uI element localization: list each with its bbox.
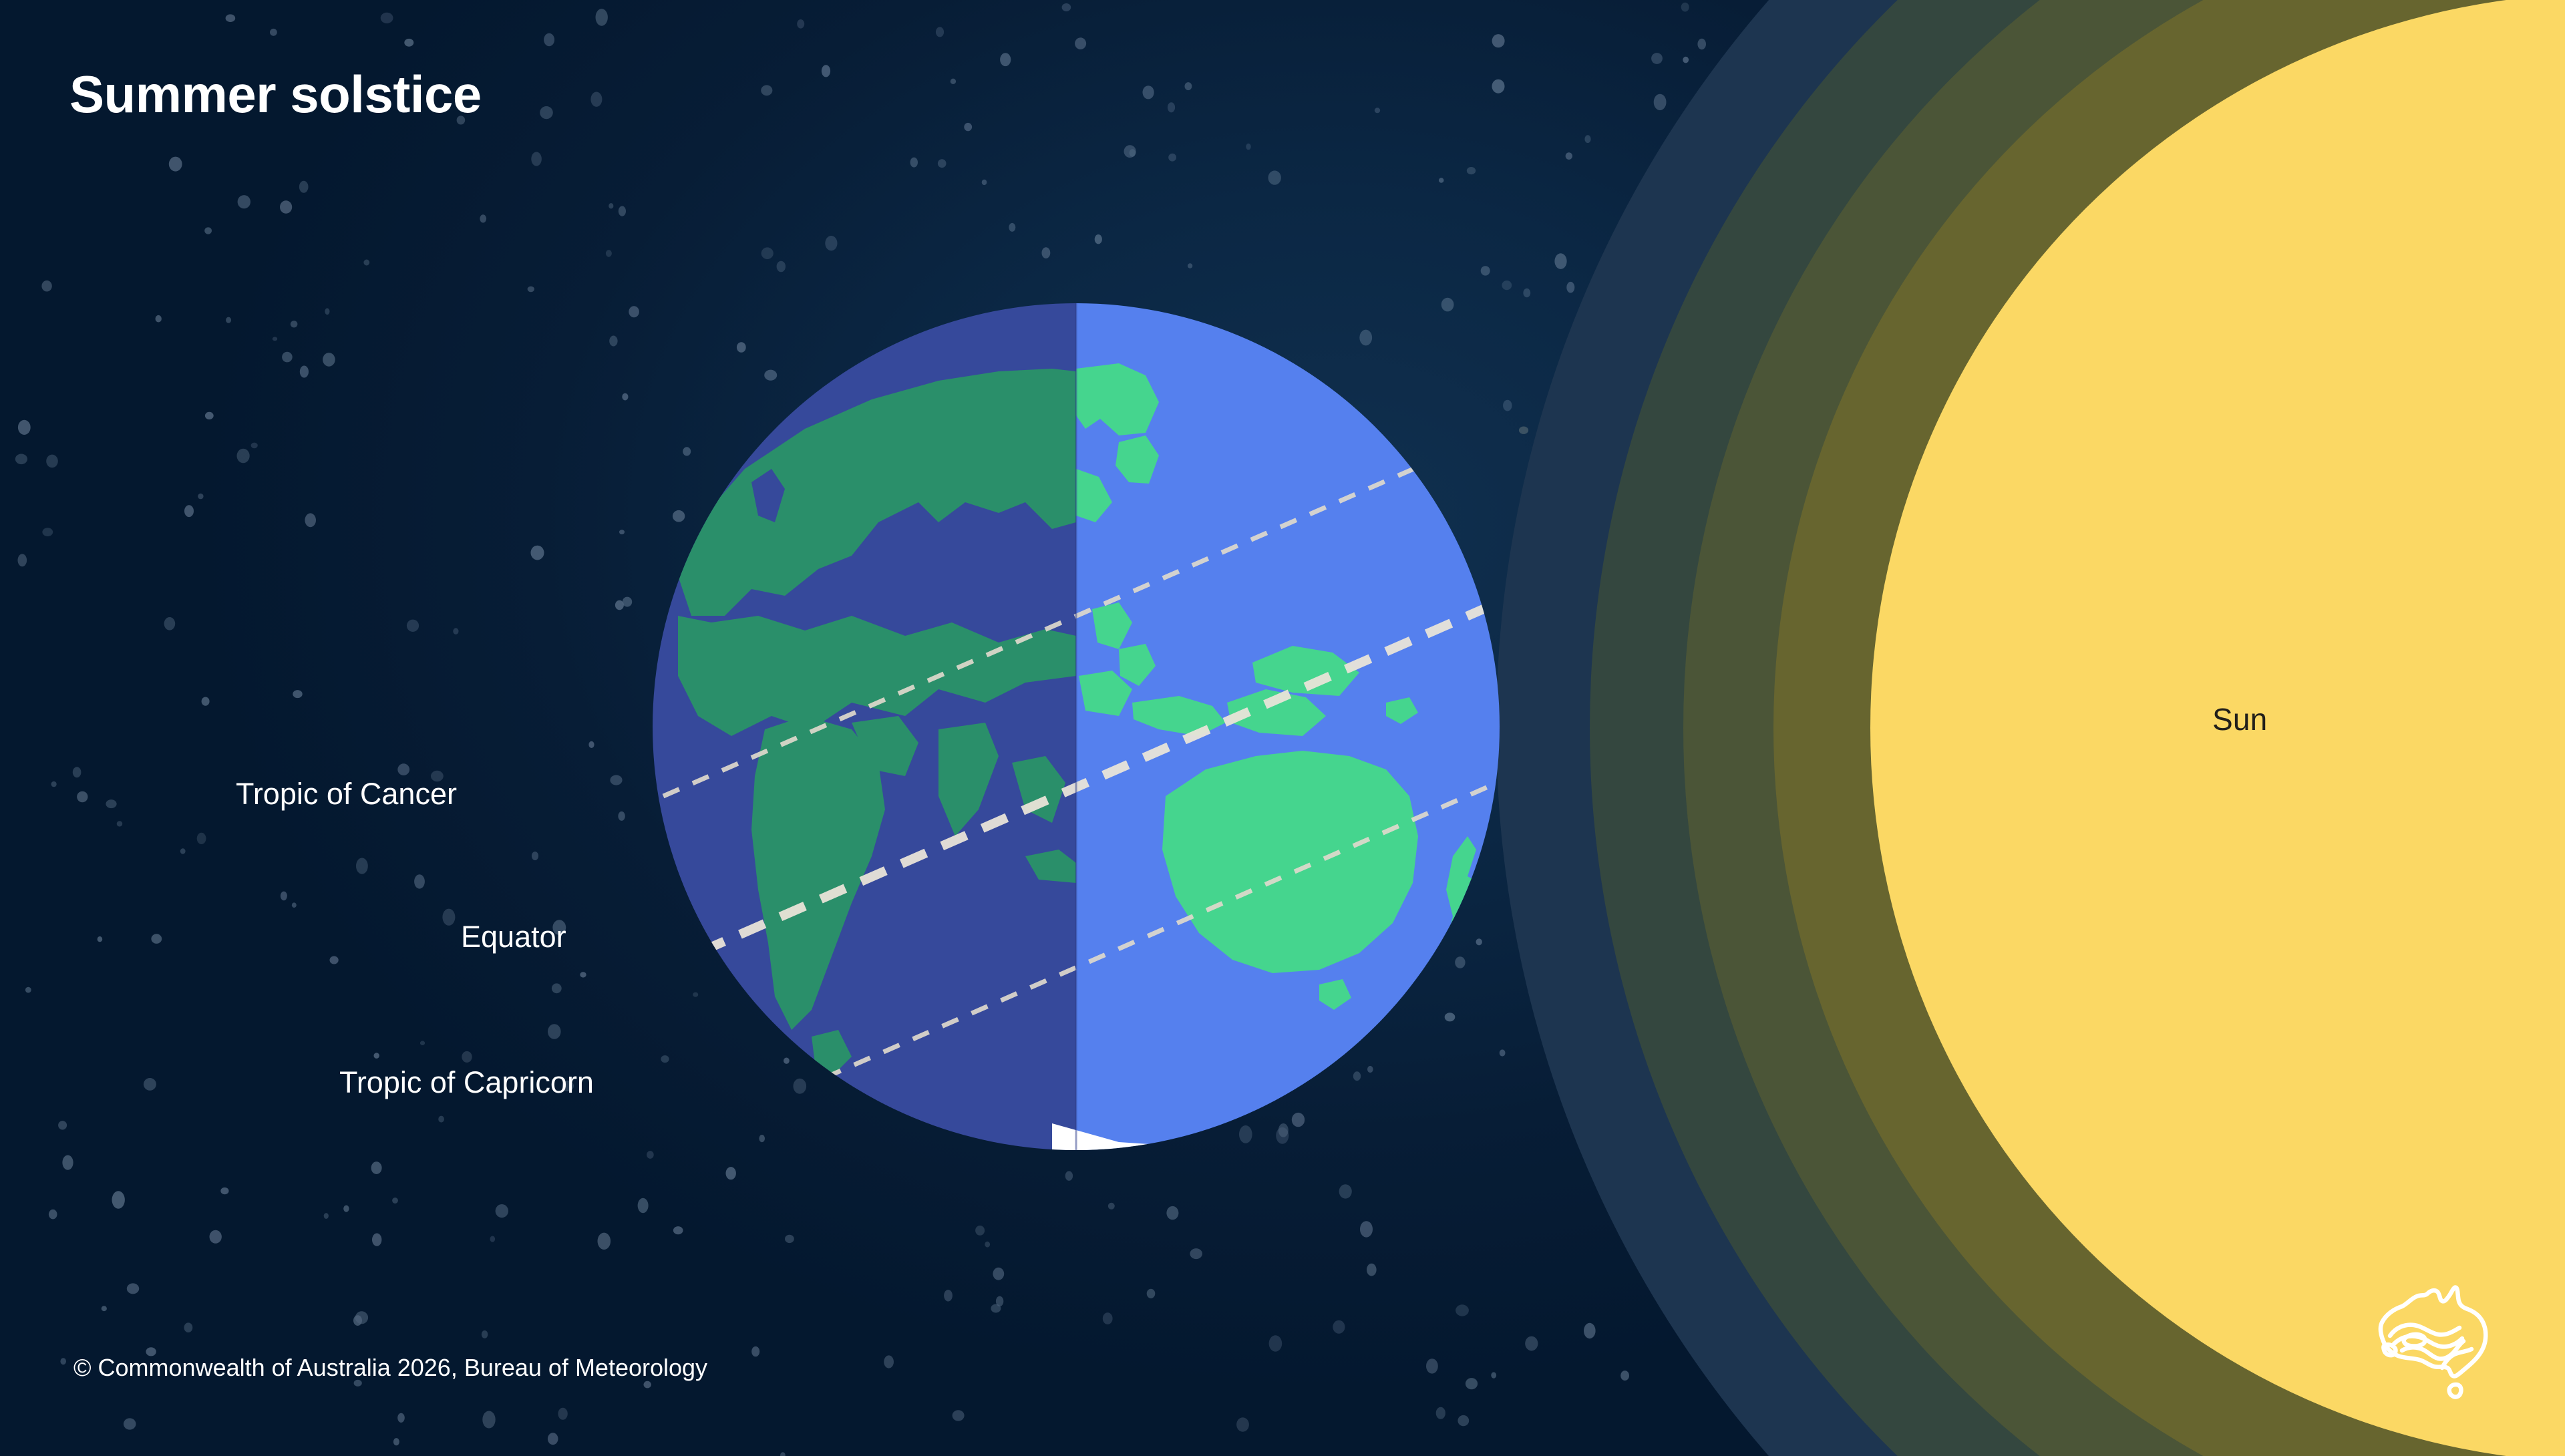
page-title: Summer solstice [69,64,482,125]
label-equator: Equator [461,920,566,954]
sun-label: Sun [2212,701,2267,737]
label-tropic-of-capricorn: Tropic of Capricorn [339,1065,594,1100]
label-tropic-of-cancer: Tropic of Cancer [236,777,457,811]
solstice-diagram-canvas: Sun [0,0,2565,1456]
copyright-notice: © Commonwealth of Australia 2026, Bureau… [73,1354,707,1382]
bureau-of-meteorology-australia-logo [2373,1274,2506,1408]
earth-globe [651,302,1501,1151]
